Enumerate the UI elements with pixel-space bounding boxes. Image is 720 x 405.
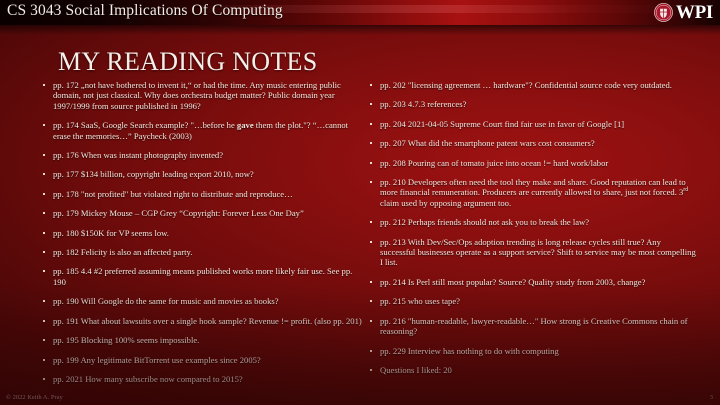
list-item: pp. 177 $134 billion, copyright leading … bbox=[40, 169, 362, 179]
page-title: MY READING NOTES bbox=[58, 47, 318, 77]
list-item: pp. 210 Developers often need the tool t… bbox=[367, 177, 697, 208]
list-item: pp. 202 "licensing agreement … hardware"… bbox=[367, 80, 697, 90]
list-item: pp. 215 who uses tape? bbox=[367, 296, 697, 306]
list-item: pp. 2021 How many subscribe now compared… bbox=[40, 374, 362, 384]
list-item: pp. 212 Perhaps friends should not ask y… bbox=[367, 217, 697, 227]
list-item: pp. 172 „not have bothered to invent it,… bbox=[40, 80, 362, 111]
list-item: pp. 204 2021-04-05 Supreme Court find fa… bbox=[367, 119, 697, 129]
list-item: pp. 213 With Dev/Sec/Ops adoption trendi… bbox=[367, 237, 697, 268]
list-item: pp. 176 When was instant photography inv… bbox=[40, 150, 362, 160]
footer-copyright: © 2022 Keith A. Pray bbox=[6, 394, 63, 401]
wpi-seal-icon bbox=[654, 3, 673, 22]
list-item: pp. 229 Interview has nothing to do with… bbox=[367, 346, 697, 356]
list-item: pp. 178 "not profited" but violated righ… bbox=[40, 189, 362, 199]
header-shadow bbox=[0, 25, 720, 35]
wpi-wordmark: WPI bbox=[676, 3, 713, 22]
list-item: pp. 195 Blocking 100% seems impossible. bbox=[40, 335, 362, 345]
presentation-slide: CS 3043 Social Implications Of Computing… bbox=[0, 0, 720, 405]
list-item: pp. 182 Felicity is also an affected par… bbox=[40, 247, 362, 257]
list-item: pp. 199 Any legitimate BitTorrent use ex… bbox=[40, 355, 362, 365]
course-title: CS 3043 Social Implications Of Computing bbox=[7, 2, 283, 20]
slide-page-number: 3 bbox=[710, 394, 713, 401]
list-item: pp. 208 Pouring can of tomato juice into… bbox=[367, 158, 697, 168]
list-item: pp. 190 Will Google do the same for musi… bbox=[40, 296, 362, 306]
wpi-logo: WPI bbox=[654, 2, 713, 23]
list-item: Questions I liked: 20 bbox=[367, 365, 697, 375]
list-item: pp. 179 Mickey Mouse – CGP Grey “Copyrig… bbox=[40, 208, 362, 218]
list-item: pp. 207 What did the smartphone patent w… bbox=[367, 138, 697, 148]
list-item: pp. 185 4.4 #2 preferred assuming means … bbox=[40, 266, 362, 287]
list-item: pp. 191 What about lawsuits over a singl… bbox=[40, 316, 362, 326]
notes-column-right: pp. 202 "licensing agreement … hardware"… bbox=[367, 80, 697, 384]
list-item: pp. 203 4.7.3 references? bbox=[367, 99, 697, 109]
notes-column-left: pp. 172 „not have bothered to invent it,… bbox=[40, 80, 362, 393]
list-item: pp. 180 $150K for VP seems low. bbox=[40, 228, 362, 238]
list-item: pp. 216 "human-readable, lawyer-readable… bbox=[367, 316, 697, 337]
list-item: pp. 214 Is Perl still most popular? Sour… bbox=[367, 277, 697, 287]
list-item: pp. 174 SaaS, Google Search example? "…b… bbox=[40, 120, 362, 141]
